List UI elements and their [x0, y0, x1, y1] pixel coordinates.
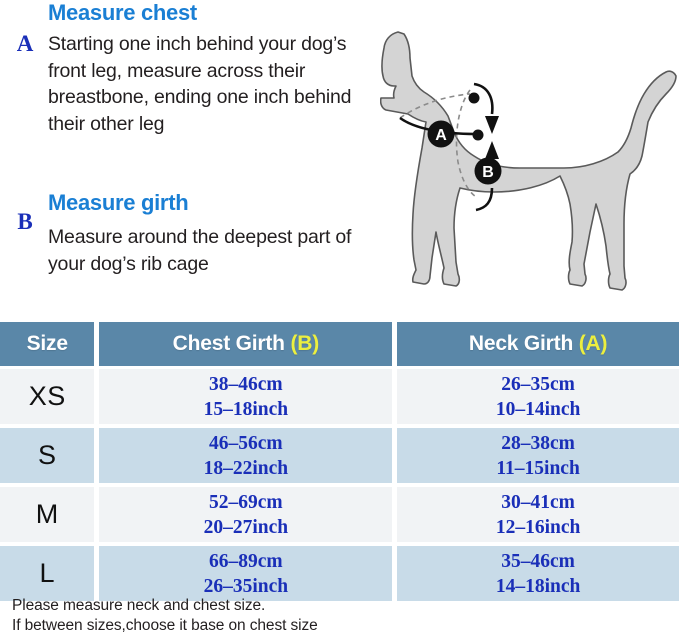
- instructions-panel: Measure chest A Starting one inch behind…: [0, 0, 370, 318]
- measure-girth-description: Measure around the deepest part of your …: [48, 224, 358, 277]
- chest-marker-letter: A: [12, 31, 38, 57]
- neck-point-dot-front: [473, 130, 484, 141]
- cell-neck-girth: 35–46cm 14–18inch: [397, 546, 679, 601]
- table-body: XS 38–46cm 15–18inch 26–35cm 10–14inch S…: [0, 369, 679, 601]
- cell-size: XS: [0, 369, 99, 428]
- cell-size: S: [0, 428, 99, 487]
- girth-marker-letter: B: [12, 209, 38, 235]
- neck-cm-value: 30–41cm: [397, 490, 679, 515]
- girth-arrow-head-down: [485, 116, 499, 134]
- neck-inch-value: 14–18inch: [397, 574, 679, 599]
- neck-inch-value: 10–14inch: [397, 397, 679, 422]
- cell-size: M: [0, 487, 99, 546]
- measure-chest-heading: Measure chest: [48, 0, 197, 26]
- neck-girth-label: Neck Girth: [469, 332, 573, 355]
- neck-cm-value: 26–35cm: [397, 372, 679, 397]
- chest-cm-value: 38–46cm: [99, 372, 392, 397]
- cell-chest-girth: 52–69cm 20–27inch: [99, 487, 397, 546]
- chest-inch-value: 15–18inch: [99, 397, 392, 422]
- column-header-neck-girth: Neck Girth (A): [397, 322, 679, 369]
- cell-neck-girth: 30–41cm 12–16inch: [397, 487, 679, 546]
- dog-diagram: A B: [380, 18, 679, 318]
- chest-cm-value: 52–69cm: [99, 490, 392, 515]
- neck-cm-value: 28–38cm: [397, 431, 679, 456]
- measure-chest-description: Starting one inch behind your dog’s fron…: [48, 31, 358, 137]
- cell-chest-girth: 46–56cm 18–22inch: [99, 428, 397, 487]
- chest-inch-value: 18–22inch: [99, 456, 392, 481]
- neck-inch-value: 11–15inch: [397, 456, 679, 481]
- footer-note: Please measure neck and chest size. If b…: [12, 596, 612, 636]
- chest-inch-value: 20–27inch: [99, 515, 392, 540]
- neck-point-dot-rear: [469, 93, 480, 104]
- neck-inch-value: 12–16inch: [397, 515, 679, 540]
- table-row: S 46–56cm 18–22inch 28–38cm 11–15inch: [0, 428, 679, 487]
- marker-b-label: B: [482, 164, 494, 181]
- footer-note-line-2: If between sizes,choose it base on chest…: [12, 616, 612, 636]
- table-row: L 66–89cm 26–35inch 35–46cm 14–18inch: [0, 546, 679, 601]
- chest-girth-tag: (B): [290, 332, 319, 355]
- dog-silhouette-shape: [381, 32, 676, 290]
- cell-neck-girth: 28–38cm 11–15inch: [397, 428, 679, 487]
- footer-note-line-1: Please measure neck and chest size.: [12, 596, 612, 616]
- cell-chest-girth: 38–46cm 15–18inch: [99, 369, 397, 428]
- marker-a-label: A: [435, 127, 447, 144]
- chest-cm-value: 66–89cm: [99, 549, 392, 574]
- cell-neck-girth: 26–35cm 10–14inch: [397, 369, 679, 428]
- neck-cm-value: 35–46cm: [397, 549, 679, 574]
- table-row: XS 38–46cm 15–18inch 26–35cm 10–14inch: [0, 369, 679, 428]
- size-chart-table: Size Chest Girth (B) Neck Girth (A) XS 3…: [0, 322, 679, 601]
- table-header: Size Chest Girth (B) Neck Girth (A): [0, 322, 679, 369]
- chest-cm-value: 46–56cm: [99, 431, 392, 456]
- column-header-size: Size: [0, 322, 99, 369]
- measure-girth-heading: Measure girth: [48, 190, 188, 216]
- neck-girth-tag: (A): [579, 332, 608, 355]
- chest-inch-value: 26–35inch: [99, 574, 392, 599]
- column-header-chest-girth: Chest Girth (B): [99, 322, 397, 369]
- cell-size: L: [0, 546, 99, 601]
- table-row: M 52–69cm 20–27inch 30–41cm 12–16inch: [0, 487, 679, 546]
- chest-girth-label: Chest Girth: [173, 332, 285, 355]
- table-header-row: Size Chest Girth (B) Neck Girth (A): [0, 322, 679, 369]
- cell-chest-girth: 66–89cm 26–35inch: [99, 546, 397, 601]
